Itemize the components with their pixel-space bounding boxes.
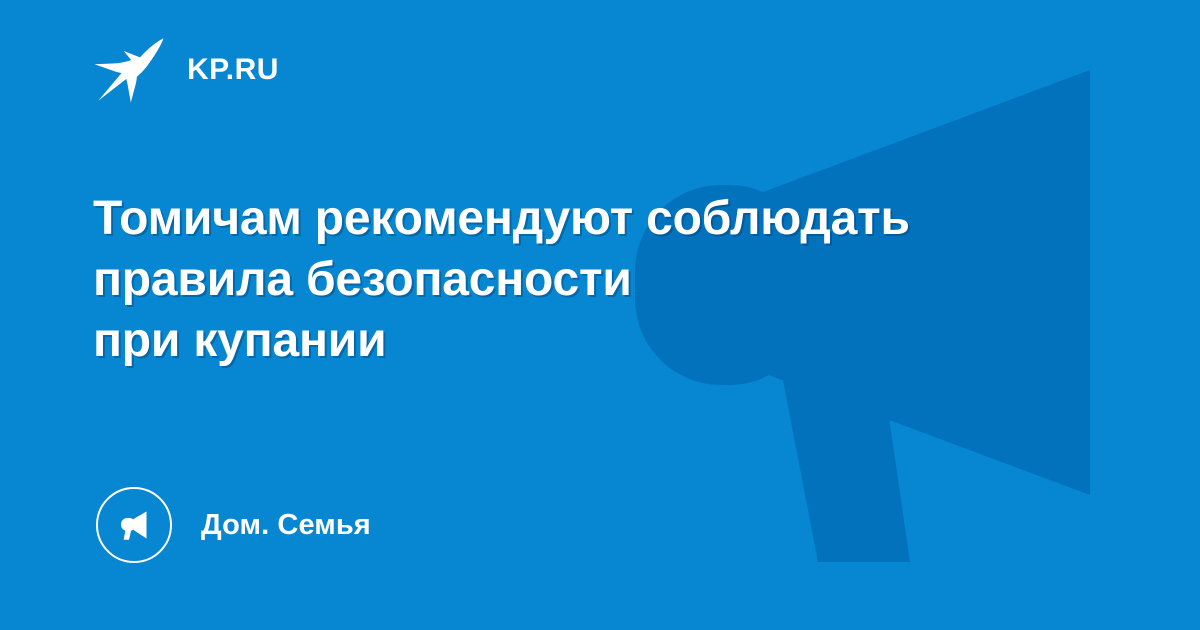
brand-name: KP.RU (187, 55, 279, 85)
page-title: Томичам рекомендуют соблюдать правила бе… (93, 188, 1103, 371)
megaphone-icon (115, 506, 153, 544)
category-badge-group[interactable]: Дом. Семья (96, 487, 371, 563)
headline-line-3: при купании (93, 310, 1103, 371)
swallow-bird-icon (93, 37, 167, 103)
megaphone-badge (96, 487, 172, 563)
headline-line-1: Томичам рекомендуют соблюдать (93, 188, 1103, 249)
category-label: Дом. Семья (201, 511, 371, 540)
social-share-card: KP.RU Томичам рекомендуют соблюдать прав… (0, 0, 1200, 630)
headline-line-2: правила безопасности (93, 249, 1103, 310)
brand-header[interactable]: KP.RU (93, 34, 279, 106)
